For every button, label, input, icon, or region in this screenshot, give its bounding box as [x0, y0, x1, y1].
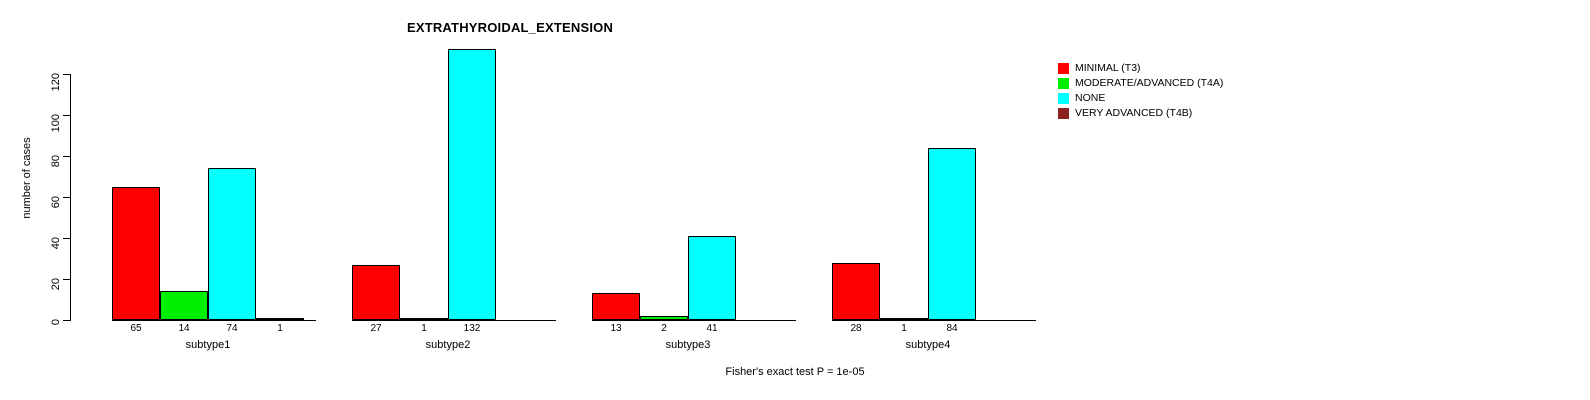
panel-baseline — [592, 320, 796, 321]
chart-bar[interactable] — [112, 187, 160, 320]
panel-baseline — [832, 320, 1036, 321]
y-axis-tick-mark — [63, 115, 70, 116]
chart-bar[interactable] — [256, 318, 304, 320]
chart-bar[interactable] — [832, 263, 880, 320]
bar-value-label: 27 — [352, 323, 400, 334]
chart-bar[interactable] — [160, 291, 208, 320]
bar-value-label: 41 — [688, 323, 736, 334]
bar-value-label: 1 — [400, 323, 448, 334]
bar-value-label: 74 — [208, 323, 256, 334]
legend-color-swatch — [1058, 63, 1069, 74]
bar-value-label: 14 — [160, 323, 208, 334]
y-axis-tick-mark — [63, 197, 70, 198]
panel-baseline — [112, 320, 316, 321]
bar-value-label: 13 — [592, 323, 640, 334]
chart-bar[interactable] — [352, 265, 400, 320]
bar-value-label: 28 — [832, 323, 880, 334]
chart-panel: 28184subtype4 — [832, 0, 1036, 400]
legend-color-swatch — [1058, 93, 1069, 104]
legend-item-label: MINIMAL (T3) — [1075, 62, 1141, 75]
footer-annotation: Fisher's exact test P = 1e-05 — [0, 366, 1590, 378]
bar-value-label: 84 — [928, 323, 976, 334]
chart-bar[interactable] — [928, 148, 976, 320]
chart-plot-area: EXTRATHYROIDAL_EXTENSION number of cases… — [0, 0, 1590, 400]
bar-value-label: 2 — [640, 323, 688, 334]
panel-category-label: subtype3 — [592, 339, 784, 351]
chart-bar[interactable] — [400, 318, 448, 320]
bar-value-label: 65 — [112, 323, 160, 334]
legend-item-label: NONE — [1075, 92, 1105, 105]
legend-color-swatch — [1058, 78, 1069, 89]
bar-value-label: 1 — [880, 323, 928, 334]
panel-category-label: subtype4 — [832, 339, 1024, 351]
chart-panel: 271132subtype2 — [352, 0, 556, 400]
panel-baseline — [352, 320, 556, 321]
legend-item-label: VERY ADVANCED (T4B) — [1075, 107, 1192, 120]
legend-color-swatch — [1058, 108, 1069, 119]
y-axis-label: number of cases — [21, 118, 33, 238]
panel-category-label: subtype2 — [352, 339, 544, 351]
bar-value-label: 1 — [256, 323, 304, 334]
chart-bar[interactable] — [592, 293, 640, 320]
chart-bar[interactable] — [880, 318, 928, 320]
y-axis-tick-mark — [63, 279, 70, 280]
y-axis-tick-mark — [63, 156, 70, 157]
bar-value-label: 132 — [448, 323, 496, 334]
y-axis-tick-label: 120 — [50, 73, 62, 129]
chart-bar[interactable] — [208, 168, 256, 320]
panel-category-label: subtype1 — [112, 339, 304, 351]
chart-panel: 13241subtype3 — [592, 0, 796, 400]
chart-panel: 6514741subtype1 — [112, 0, 316, 400]
y-axis-line — [70, 74, 71, 321]
legend-item-label: MODERATE/ADVANCED (T4A) — [1075, 77, 1223, 90]
chart-bar[interactable] — [640, 316, 688, 320]
y-axis-tick-mark — [63, 238, 70, 239]
y-axis-tick-mark — [63, 320, 70, 321]
chart-bar[interactable] — [448, 49, 496, 320]
chart-bar[interactable] — [688, 236, 736, 320]
y-axis-tick-mark — [63, 74, 70, 75]
